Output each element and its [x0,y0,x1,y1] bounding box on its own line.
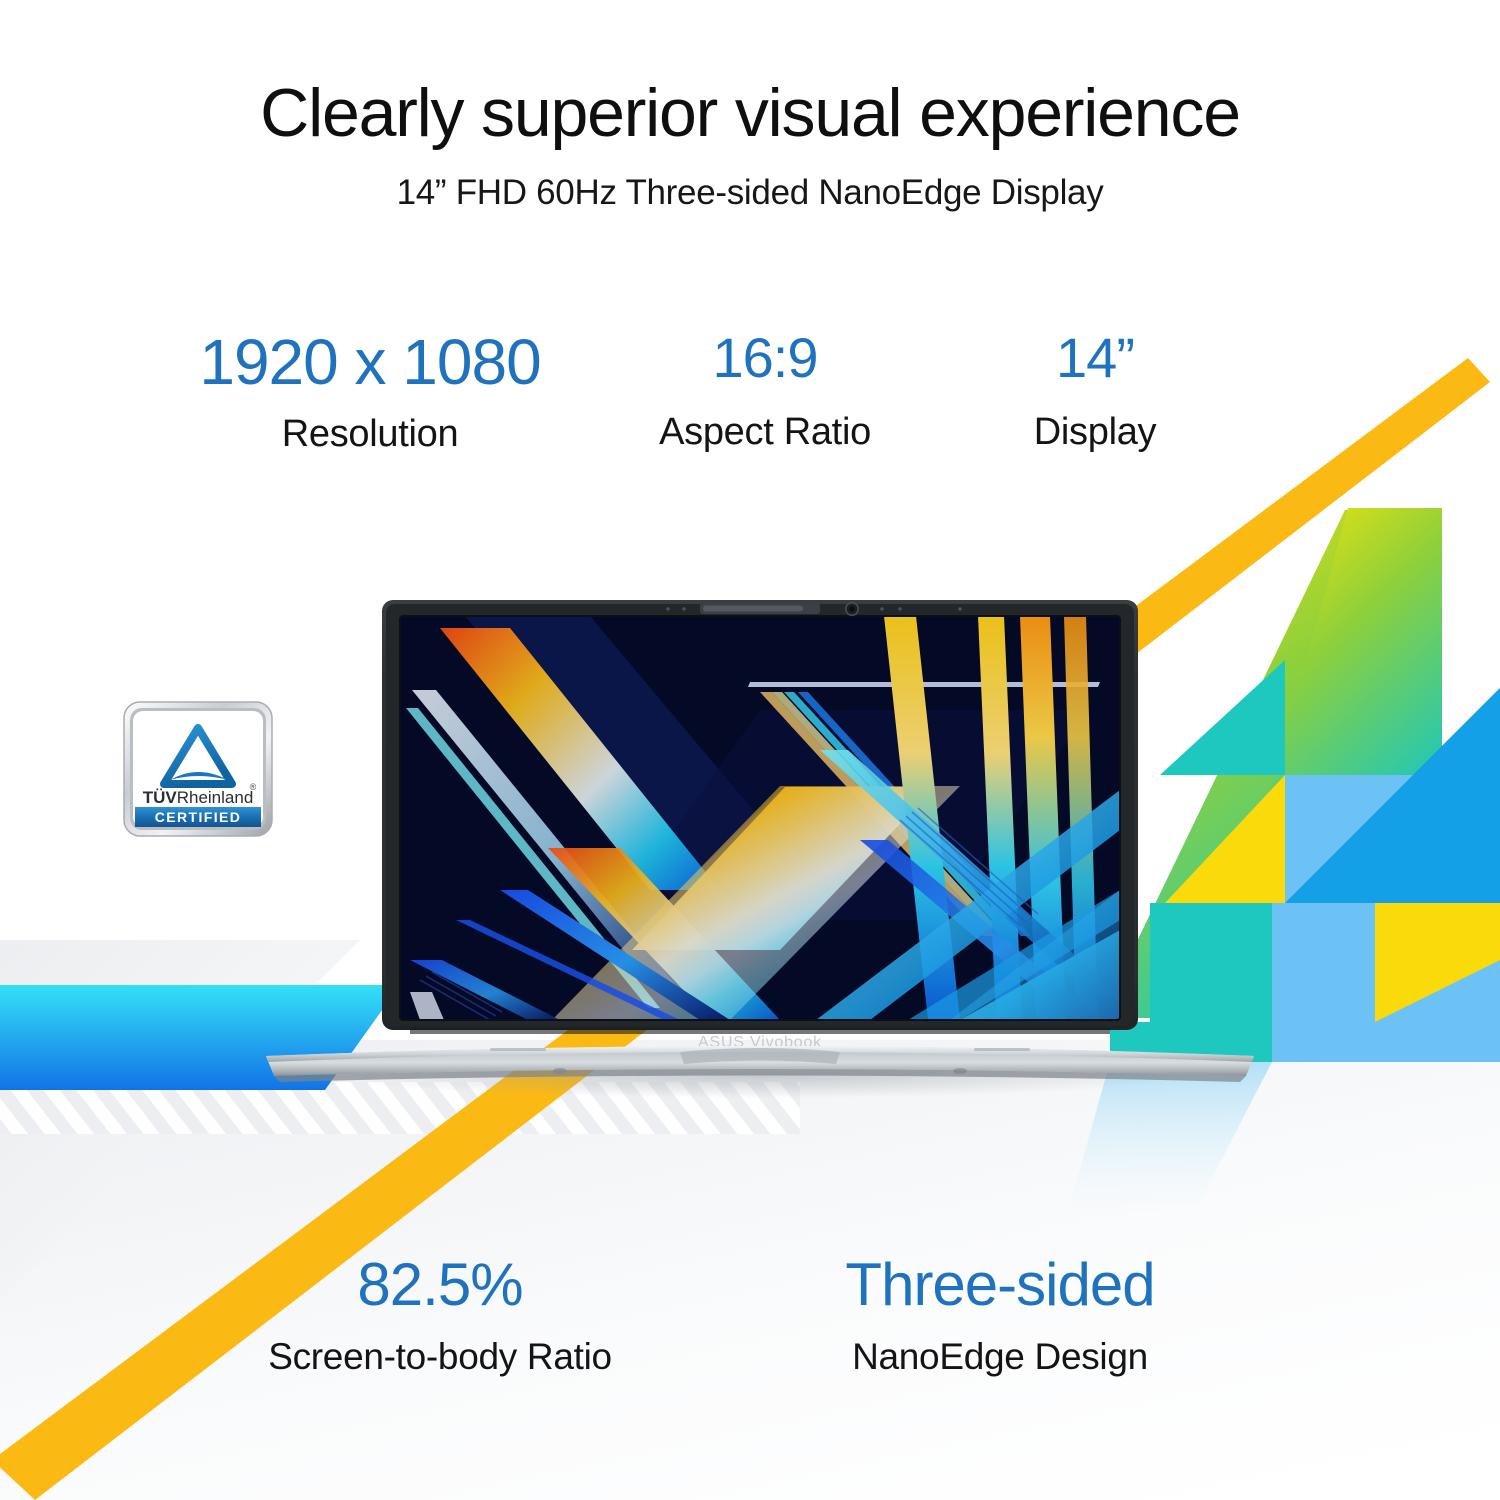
tuv-brand-text: TÜVRheinland [143,788,254,807]
spec-display-size-value: 14” [930,330,1260,386]
tuv-badge-svg: TÜVRheinland ® CERTIFIED [122,700,274,838]
spec-row-bottom: 82.5% Screen-to-body Ratio Three-sided N… [160,1255,1340,1378]
product-feature-banner: Clearly superior visual experience 14” F… [0,0,1500,1500]
spec-display-size: 14” Display [930,330,1260,454]
page-subtitle: 14” FHD 60Hz Three-sided NanoEdge Displa… [0,173,1500,213]
spec-screen-to-body: 82.5% Screen-to-body Ratio [160,1255,720,1378]
vent [974,1048,1030,1051]
microphone-icon [898,607,901,610]
microphone-icon [880,607,883,610]
spec-resolution-label: Resolution [140,414,600,456]
laptop-product-image: ASUS Vivobook [260,590,1260,1110]
spec-resolution-value: 1920 x 1080 [140,330,600,394]
screen-wallpaper [400,616,1120,1036]
spec-nanoedge: Three-sided NanoEdge Design [720,1255,1280,1378]
tuv-certified-text: CERTIFIED [155,809,242,825]
tuv-rheinland-certified-badge: TÜVRheinland ® CERTIFIED [122,700,274,838]
page-title: Clearly superior visual experience [0,78,1500,149]
microphone-icon [666,607,669,610]
spec-aspect-ratio-value: 16:9 [600,330,930,386]
tuv-registered-mark: ® [250,782,257,792]
ambient-sensor-icon [958,607,961,610]
headline-block: Clearly superior visual experience 14” F… [0,78,1500,213]
microphone-icon [682,607,685,610]
spec-screen-to-body-value: 82.5% [160,1255,720,1315]
laptop-svg: ASUS Vivobook [260,590,1260,1110]
spec-resolution: 1920 x 1080 Resolution [140,330,600,456]
vent [490,1048,546,1051]
spec-display-size-label: Display [930,412,1260,454]
spec-nanoedge-value: Three-sided [720,1255,1280,1315]
spec-screen-to-body-label: Screen-to-body Ratio [160,1337,720,1378]
spec-aspect-ratio: 16:9 Aspect Ratio [600,330,930,454]
spec-nanoedge-label: NanoEdge Design [720,1337,1280,1378]
spec-aspect-ratio-label: Aspect Ratio [600,412,930,454]
spec-row-top: 1920 x 1080 Resolution 16:9 Aspect Ratio… [140,330,1340,456]
